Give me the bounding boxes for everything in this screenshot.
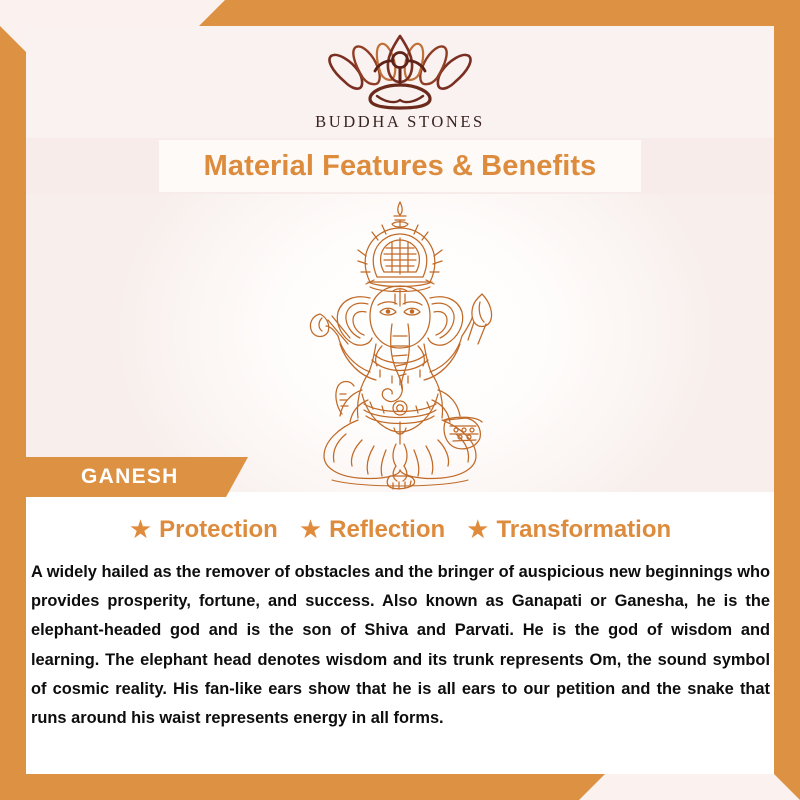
- feature-list: ★ Protection ★ Reflection ★ Transformati…: [26, 516, 774, 544]
- feature-item-reflection: ★ Reflection: [299, 516, 445, 544]
- ganesha-line-art-icon: [250, 194, 550, 492]
- brand-header: BUDDHA STONES: [26, 26, 774, 138]
- feature-label: Reflection: [329, 516, 445, 544]
- star-icon: ★: [129, 516, 152, 542]
- feature-label: Transformation: [496, 516, 671, 544]
- frame-top-bar: [0, 0, 800, 26]
- brand-name: BUDDHA STONES: [315, 112, 485, 132]
- section-ribbon: GANESH: [26, 457, 248, 497]
- feature-item-protection: ★ Protection: [129, 516, 278, 544]
- illustration-area: [26, 194, 774, 492]
- star-icon: ★: [466, 516, 489, 542]
- page-title: Material Features & Benefits: [26, 138, 774, 194]
- content-area: BUDDHA STONES Material Features & Benefi…: [26, 26, 774, 774]
- frame-bottom-bar: [0, 774, 800, 800]
- description-text: A widely hailed as the remover of obstac…: [31, 558, 770, 733]
- feature-label: Protection: [159, 516, 278, 544]
- frame-left-bar: [0, 0, 26, 800]
- infographic-page: BUDDHA STONES Material Features & Benefi…: [0, 0, 800, 800]
- frame-right-bar: [774, 0, 800, 800]
- section-ribbon-label: GANESH: [81, 465, 179, 489]
- brand-logo: BUDDHA STONES: [26, 30, 774, 132]
- star-icon: ★: [299, 516, 322, 542]
- feature-item-transformation: ★ Transformation: [466, 516, 671, 544]
- lotus-meditation-icon: [315, 30, 485, 110]
